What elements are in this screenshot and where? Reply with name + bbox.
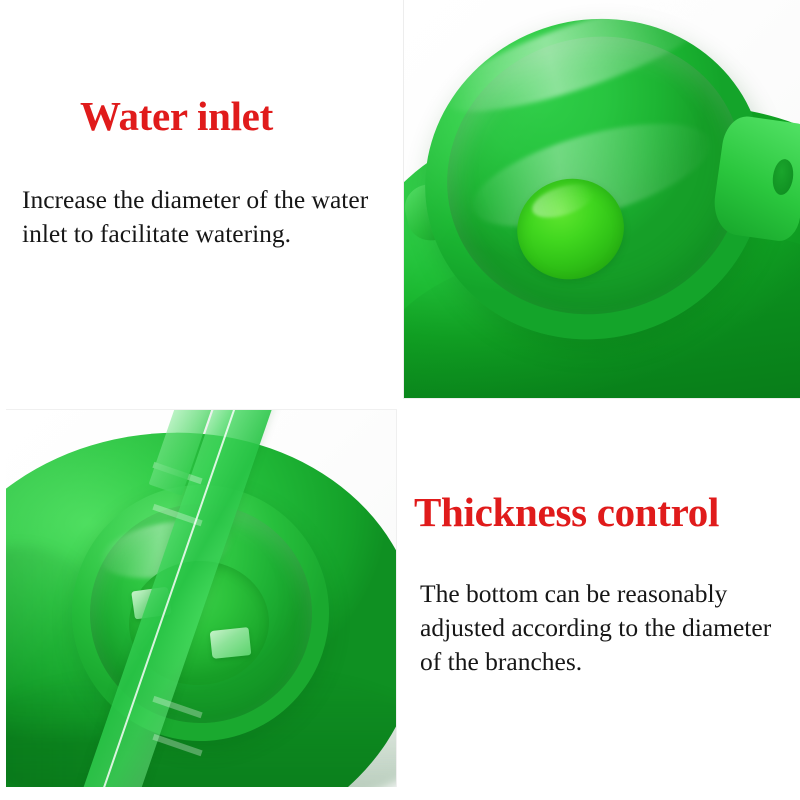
water-inlet-heading: Water inlet: [80, 96, 392, 137]
funnel-top-illustration: [404, 0, 800, 398]
panel-water-inlet: Water inlet Increase the diameter of the…: [22, 96, 392, 251]
panel-thickness-control: Thickness control The bottom can be reas…: [414, 492, 800, 679]
thickness-control-description: The bottom can be reasonably adjusted ac…: [420, 577, 798, 679]
thickness-adjust-tab-right: [209, 627, 251, 659]
thickness-control-heading: Thickness control: [414, 492, 800, 533]
water-inlet-description: Increase the diameter of the water inlet…: [22, 183, 370, 251]
infographic-canvas: Water inlet Increase the diameter of the…: [0, 0, 800, 800]
funnel-bottom-illustration: [6, 410, 396, 787]
photo-funnel-water-inlet: [403, 0, 800, 399]
photo-funnel-underside: [6, 409, 397, 787]
